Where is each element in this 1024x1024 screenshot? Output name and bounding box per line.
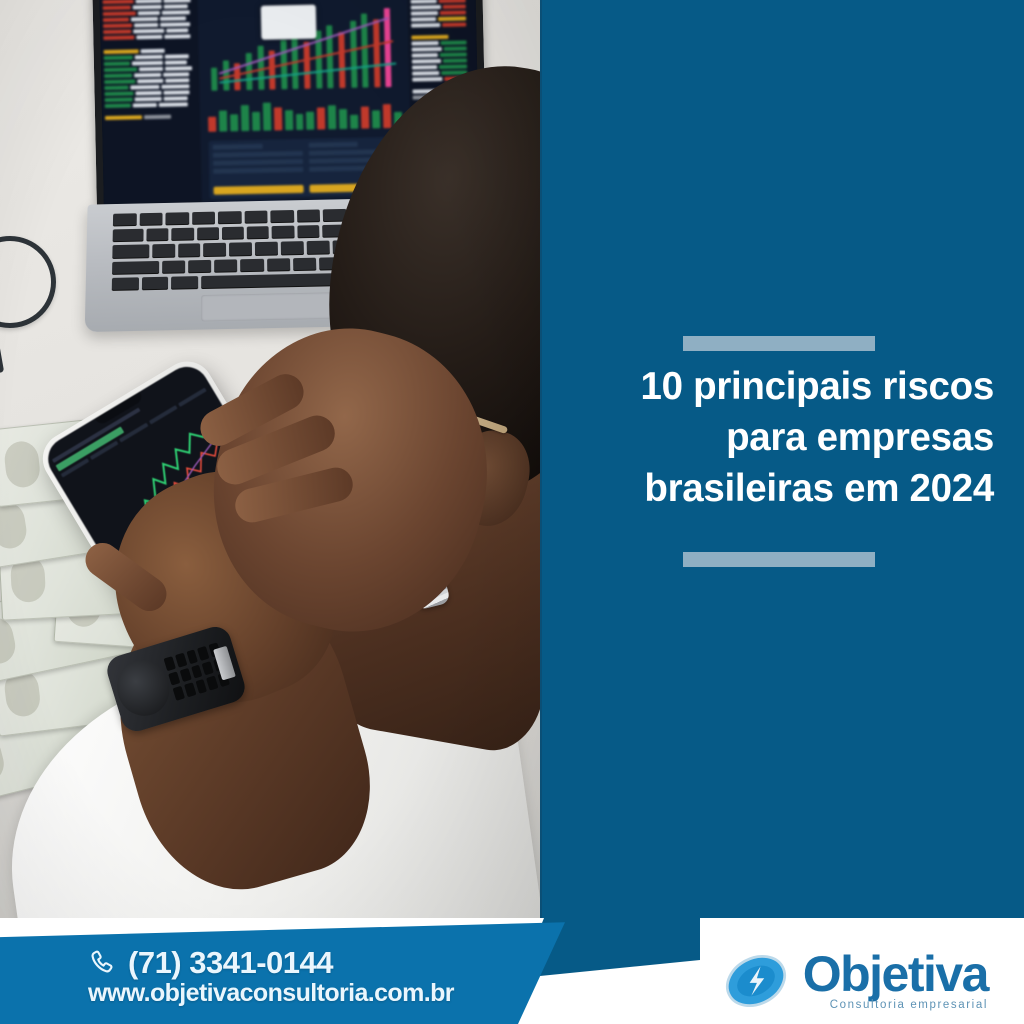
accent-bar-top <box>683 336 875 351</box>
poster-canvas: MacBook Pro <box>0 0 1024 1024</box>
contact-block: (71) 3341-0144 www.objetivaconsultoria.c… <box>88 945 508 1008</box>
objetiva-disc-icon <box>719 950 793 1012</box>
company-logo[interactable]: Objetiva Consultoria empresarial <box>719 950 988 1012</box>
headline-panel: 10 principais riscos para empresas brasi… <box>542 0 1024 1024</box>
photo-vignette <box>0 0 542 1024</box>
page-title: 10 principais riscos para empresas brasi… <box>560 362 1006 514</box>
logo-wordmark: Objetiva <box>803 951 988 999</box>
footer-bar: (71) 3341-0144 www.objetivaconsultoria.c… <box>0 918 1024 1024</box>
phone-line[interactable]: (71) 3341-0144 <box>88 945 508 981</box>
logo-tagline: Consultoria empresarial <box>830 999 988 1011</box>
accent-bar-bottom <box>683 552 875 567</box>
hero-photo: MacBook Pro <box>0 0 542 1024</box>
phone-handset-icon <box>88 948 118 978</box>
phone-number: (71) 3341-0144 <box>128 945 333 981</box>
website-url[interactable]: www.objetivaconsultoria.com.br <box>88 979 508 1008</box>
logo-text: Objetiva Consultoria empresarial <box>803 951 988 1012</box>
